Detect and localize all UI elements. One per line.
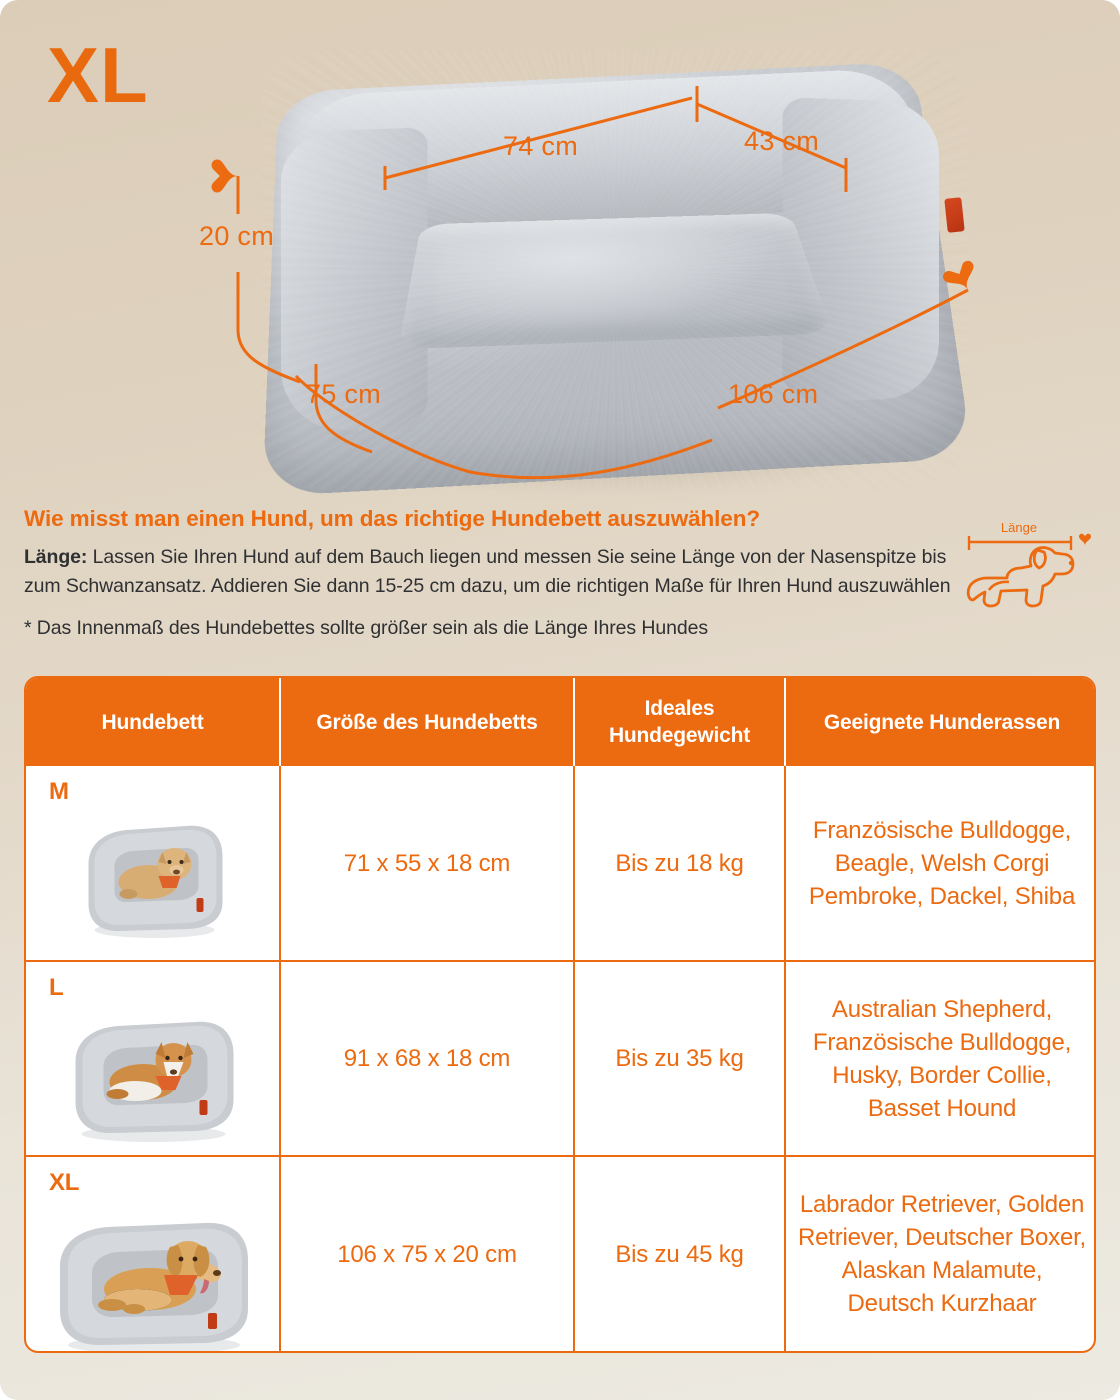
dim-label-outer-length: 106 cm (728, 379, 818, 410)
hero-section: XL (0, 0, 1120, 500)
row-size-label-m: M (49, 780, 69, 804)
brand-tag (944, 197, 964, 233)
table-row: L (26, 961, 1096, 1156)
cell-weight-m: Bis zu 18 kg (574, 766, 785, 961)
column-header-breeds: Geeignete Hunderassen (785, 678, 1096, 766)
dog-bed-product-image (262, 40, 967, 495)
cell-bed-xl: XL (26, 1156, 280, 1351)
cell-breeds-m: Französische Bulldogge, Beagle, Welsh Co… (785, 766, 1096, 961)
dim-label-height: 20 cm (199, 221, 274, 252)
column-header-bed: Hundebett (26, 678, 280, 766)
bed-thumbnail-m (70, 802, 235, 942)
heart-icon (1079, 534, 1091, 546)
cell-breeds-l: Australian Shepherd, Französische Bulldo… (785, 961, 1096, 1156)
page-title-size-badge: XL (47, 36, 149, 114)
column-header-weight-line1: Ideales (645, 697, 715, 720)
measure-instructions: Wie misst man einen Hund, um das richtig… (24, 506, 954, 643)
dog-icon-label: Länge (1001, 520, 1037, 535)
measure-body-label: Länge: (24, 546, 87, 568)
measure-body-text: Lassen Sie Ihren Hund auf dem Bauch lieg… (24, 546, 951, 597)
table-row: M (26, 766, 1096, 961)
cell-size-l: 91 x 68 x 18 cm (280, 961, 574, 1156)
row-size-label-xl: XL (49, 1171, 79, 1195)
cell-bed-m: M (26, 766, 280, 961)
cell-breeds-xl: Labrador Retriever, Golden Retriever, De… (785, 1156, 1096, 1351)
cell-size-xl: 106 x 75 x 20 cm (280, 1156, 574, 1351)
measure-note: * Das Innenmaß des Hundebettes sollte gr… (24, 614, 954, 643)
cell-weight-xl: Bis zu 45 kg (574, 1156, 785, 1351)
table-header-row: Hundebett Größe des Hundebetts Ideales H… (26, 678, 1096, 766)
bed-thumbnail-l (55, 996, 250, 1146)
dim-label-inner-length: 74 cm (503, 131, 578, 162)
dog-hind-leg (989, 582, 1009, 590)
dog-measure-icon: Länge (963, 508, 1103, 616)
dim-label-inner-width: 43 cm (744, 126, 819, 157)
column-header-weight-line2: Hundegewicht (609, 724, 750, 747)
dog-nose-icon (1069, 561, 1073, 565)
cell-weight-l: Bis zu 35 kg (574, 961, 785, 1156)
column-header-weight: Ideales Hundegewicht (574, 678, 785, 766)
dog-body-outline (968, 548, 1073, 606)
dog-ear-icon (1034, 550, 1045, 568)
bed-thumbnail-xl (38, 1197, 268, 1353)
column-header-size: Größe des Hundebetts (280, 678, 574, 766)
dim-label-outer-width: 75 cm (306, 379, 381, 410)
measure-body: Länge: Lassen Sie Ihren Hund auf dem Bau… (24, 543, 954, 600)
cell-bed-l: L (26, 961, 280, 1156)
bed-cushion (398, 213, 832, 350)
cell-size-m: 71 x 55 x 18 cm (280, 766, 574, 961)
size-comparison-table: Hundebett Größe des Hundebetts Ideales H… (24, 676, 1096, 1353)
measure-heading: Wie misst man einen Hund, um das richtig… (24, 506, 954, 532)
table-row: XL (26, 1156, 1096, 1351)
infographic-page: XL (0, 0, 1120, 1400)
